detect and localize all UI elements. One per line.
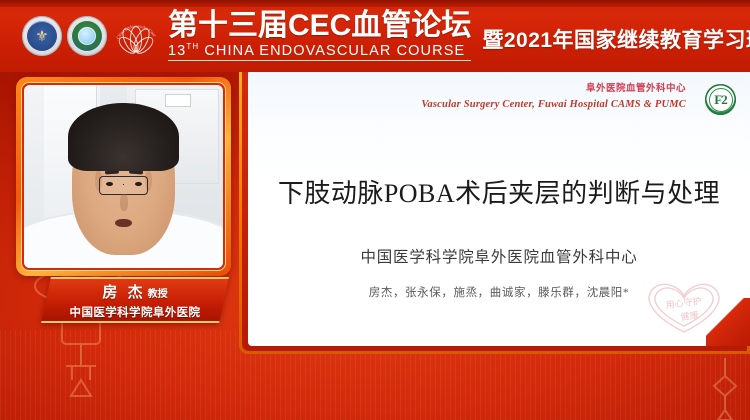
speaker-video-feed[interactable] bbox=[24, 85, 223, 268]
slide-title: 下肢动脉POBA术后夹层的判断与处理 bbox=[248, 173, 750, 210]
svg-text:健康: 健康 bbox=[680, 309, 699, 322]
event-header-banner: ⚜ China Endovascular Course bbox=[0, 0, 750, 72]
event-sub-title-text: CHINA ENDOVASCULAR COURSE bbox=[204, 43, 465, 59]
title-underline bbox=[168, 60, 471, 62]
slide-subtitle-institution: 中国医学科学院阜外医院血管外科中心 bbox=[248, 245, 750, 267]
header-top-edge bbox=[0, 0, 750, 7]
speaker-nameplate: 房 杰教授 中国医学科学院阜外医院 bbox=[46, 277, 224, 323]
slide-org-name-cn: 阜外医院血管外科中心 bbox=[421, 84, 686, 96]
speaker-name: 房 杰 bbox=[102, 284, 145, 301]
video-bg-note bbox=[165, 94, 191, 107]
fuwai-logo-mark: F2 bbox=[705, 84, 736, 115]
cec-globe-logo bbox=[67, 16, 107, 56]
slide-organization-header: 阜外医院血管外科中心 Vascular Surgery Center, Fuwa… bbox=[421, 84, 686, 111]
organizer-logos: ⚜ China Endovascular Course bbox=[22, 15, 158, 57]
speaker-video-frame[interactable] bbox=[16, 77, 231, 276]
cec-lotus-logo: China Endovascular Course bbox=[114, 15, 158, 57]
lantern-decoration-right bbox=[706, 358, 744, 420]
presentation-slide-panel[interactable]: 阜外医院血管外科中心 Vascular Surgery Center, Fuwa… bbox=[239, 62, 750, 354]
video-frame-inner-ring bbox=[21, 82, 226, 271]
slide-corner-wedge bbox=[706, 298, 750, 346]
nameplate-content: 房 杰教授 中国医学科学院阜外医院 bbox=[46, 277, 224, 323]
edition-number: 13 bbox=[168, 43, 186, 59]
fuwai-hospital-logo: F2 bbox=[705, 84, 736, 115]
presenter-glasses bbox=[99, 176, 149, 195]
speaker-affiliation: 中国医学科学院阜外医院 bbox=[70, 304, 201, 320]
event-main-title: 第十三届CEC血管论坛 bbox=[168, 11, 471, 42]
slide-org-name-en: Vascular Surgery Center, Fuwai Hospital … bbox=[421, 98, 686, 111]
presenter-mouth bbox=[115, 219, 132, 228]
presenter-nose bbox=[120, 194, 127, 212]
broadcast-stage: ⚜ China Endovascular Course bbox=[0, 0, 750, 420]
presenter-hair bbox=[68, 103, 179, 171]
slide-author-list: 房杰，张永保，施烝，曲诚家，滕乐群，沈晨阳* bbox=[248, 284, 750, 300]
edition-ordinal: TH bbox=[186, 42, 199, 51]
cec-academy-logo: ⚜ bbox=[22, 16, 62, 56]
event-header-right-text: 暨2021年国家继续教育学习班 bbox=[482, 24, 750, 54]
nameplate-name-line: 房 杰教授 bbox=[102, 281, 167, 302]
speaker-rank: 教授 bbox=[148, 289, 168, 300]
event-sub-title: 13TH CHINA ENDOVASCULAR COURSE bbox=[168, 42, 471, 59]
slide-content[interactable]: 阜外医院血管外科中心 Vascular Surgery Center, Fuwa… bbox=[248, 70, 750, 346]
event-title-block: 第十三届CEC血管论坛 13TH CHINA ENDOVASCULAR COUR… bbox=[168, 11, 471, 62]
